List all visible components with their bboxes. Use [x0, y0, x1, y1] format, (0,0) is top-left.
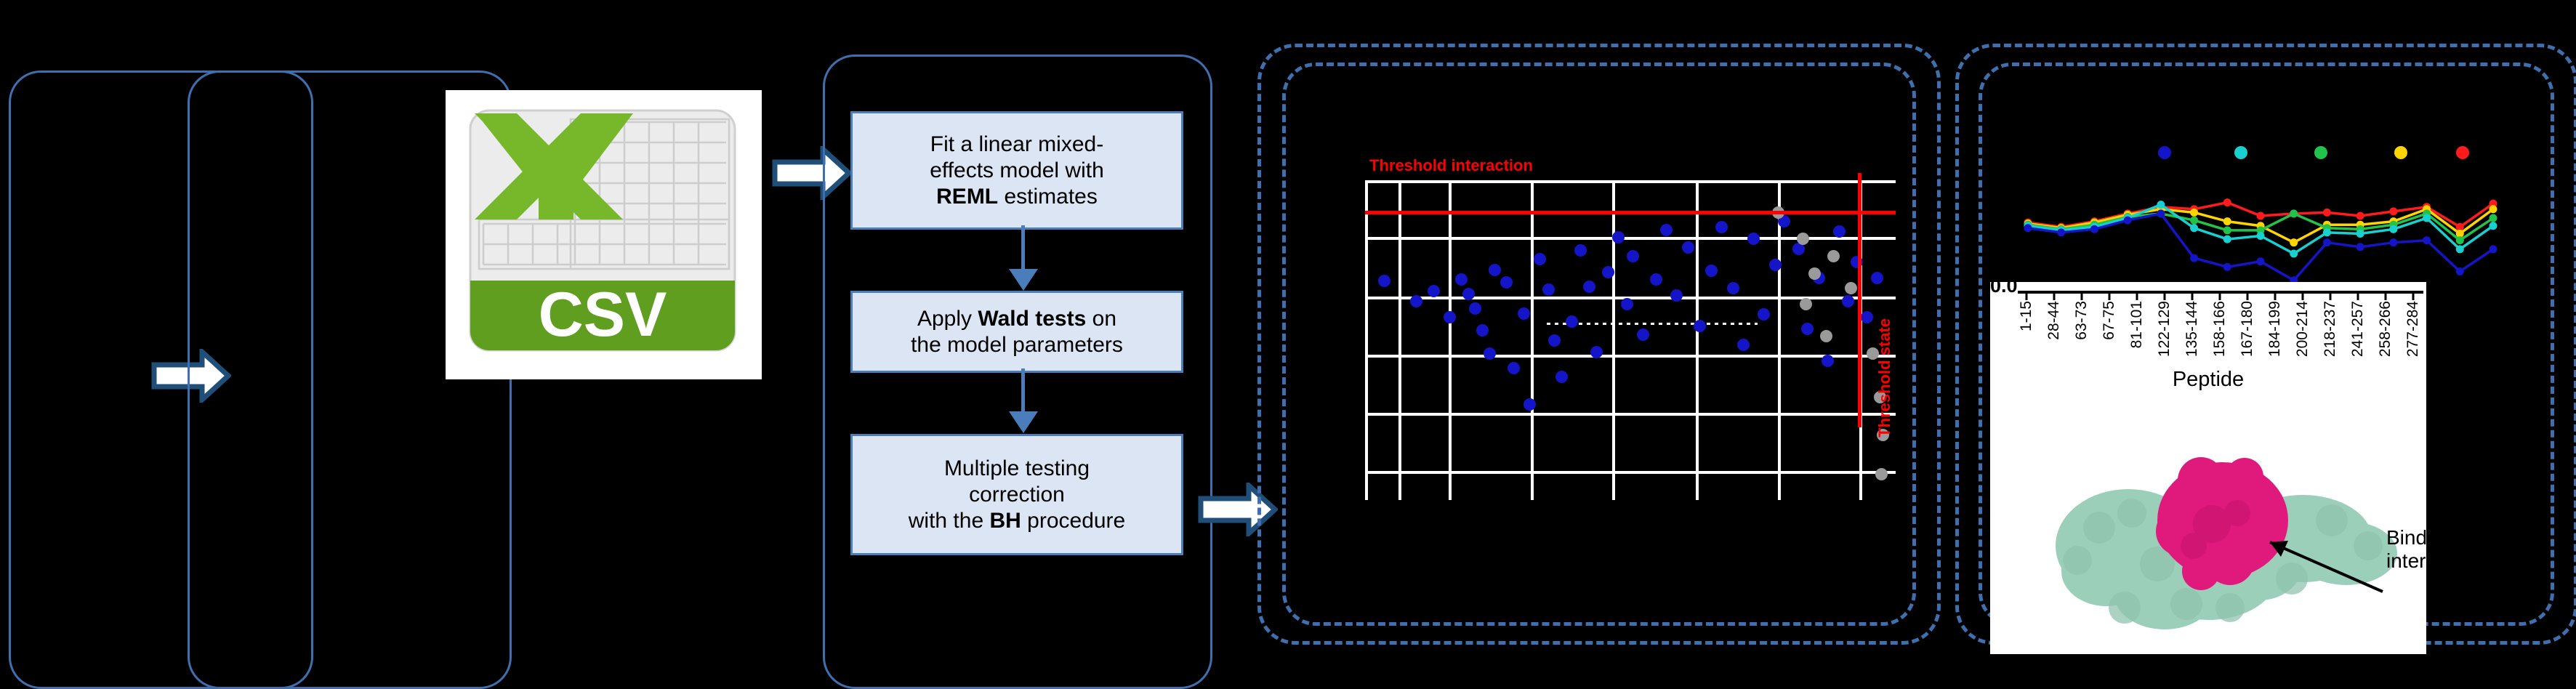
grid-line — [1365, 471, 1896, 474]
threshold-interaction-line — [1365, 211, 1896, 214]
chart-data-point — [2223, 226, 2231, 234]
scatter-point — [1462, 288, 1475, 300]
scatter-point-nonsignificant — [1820, 330, 1832, 342]
wald-line-1-post: on — [1086, 307, 1116, 331]
dotted-reference-line — [1547, 323, 1758, 325]
binding-interface-annotation: Binding interface — [2386, 526, 2426, 573]
chart-data-point — [2356, 243, 2364, 251]
mt-line-3-post: procedure — [1021, 509, 1125, 533]
down-arrow-icon — [1007, 410, 1039, 435]
scatter-point — [1500, 276, 1513, 289]
threshold-state-line — [1858, 173, 1861, 427]
fit-model-step[interactable]: Fit a linear mixed- effects model with R… — [850, 111, 1183, 230]
scatter-point — [1650, 273, 1662, 286]
peptide-tick-label: 28-44 — [2045, 301, 2063, 340]
threshold-state-label: Threshold state — [1875, 318, 1894, 438]
scatter-point — [1670, 289, 1683, 302]
peptide-line-chart — [1983, 124, 2503, 294]
scatter-point — [1489, 264, 1501, 276]
chart-data-point — [2290, 209, 2298, 217]
scatter-point — [1590, 346, 1603, 358]
scatter-point — [1484, 347, 1496, 360]
chart-data-point — [2157, 201, 2165, 209]
chart-data-point — [2456, 236, 2464, 244]
chart-data-point — [2190, 224, 2198, 232]
fit-model-line-3-post: estimates — [998, 185, 1098, 209]
scatter-point — [1694, 320, 1706, 332]
grid-line — [1612, 180, 1615, 500]
chart-data-point — [2456, 267, 2464, 275]
peptide-tick-label: 218-237 — [2322, 301, 2339, 357]
scatter-point — [1542, 283, 1555, 296]
chart-data-point — [2389, 238, 2397, 246]
svg-text:CSV: CSV — [539, 280, 667, 350]
chart-data-point — [2389, 225, 2397, 233]
scatter-point — [1660, 224, 1673, 236]
peptide-tick-label: 158-166 — [2211, 301, 2229, 357]
scatter-point — [1627, 250, 1639, 262]
scatter-point — [1637, 329, 1649, 341]
fit-model-line-2: effects model with — [930, 158, 1104, 182]
scatter-point-nonsignificant — [1827, 250, 1840, 262]
chart-data-point — [2190, 209, 2198, 217]
peptide-tick-label: 63-73 — [2073, 301, 2090, 340]
legend-marker — [2314, 146, 2327, 159]
fit-model-line-1: Fit a linear mixed- — [930, 132, 1103, 156]
grid-line — [1398, 180, 1401, 500]
scatter-point — [1476, 324, 1489, 337]
scatter-point — [1758, 308, 1770, 321]
scatter-point — [1822, 355, 1834, 367]
grid-line — [1531, 180, 1534, 500]
scatter-point — [1801, 323, 1814, 335]
scatter-point — [1378, 275, 1390, 287]
chart-data-point — [2490, 222, 2497, 230]
chart-data-point — [2423, 214, 2431, 222]
scatter-point-nonsignificant — [1800, 298, 1812, 310]
wald-line-2: the model parameters — [911, 333, 1123, 357]
scatter-point — [1455, 273, 1468, 286]
chart-data-point — [2356, 211, 2364, 219]
legend-marker — [2394, 146, 2407, 159]
binding-label-line-1: Binding — [2386, 526, 2426, 549]
scatter-point — [1444, 311, 1456, 323]
mt-line-2: correction — [969, 483, 1065, 507]
chart-data-point — [2024, 224, 2032, 232]
peptide-tick-label: 122-129 — [2156, 301, 2173, 357]
chart-data-point — [2490, 214, 2497, 222]
peptide-results-card: 0.0 1-1528-4463-7367-7581-101122-129135-… — [1990, 282, 2426, 654]
chart-data-point — [2223, 235, 2231, 243]
scatter-point — [1612, 231, 1625, 243]
grid-line — [1449, 180, 1452, 500]
chart-data-point — [2190, 254, 2198, 262]
peptide-tick-label: 258-266 — [2377, 301, 2394, 357]
scatter-point — [1842, 295, 1854, 307]
scatter-point-nonsignificant — [1797, 233, 1809, 245]
y-tick-label-0: 0.0 — [1990, 282, 2018, 297]
chart-data-point — [2323, 209, 2331, 217]
peptide-tick-label: 135-144 — [2183, 301, 2201, 357]
scatter-plot-area — [1365, 180, 1896, 500]
scatter-point — [1682, 241, 1694, 254]
legend-marker — [2456, 146, 2469, 159]
scatter-point — [1833, 225, 1846, 238]
binding-label-line-2: interface — [2386, 549, 2426, 572]
chart-data-point — [2323, 228, 2331, 236]
peptide-tick-label: 277-284 — [2404, 301, 2422, 357]
peptide-tick-label: 184-199 — [2266, 301, 2284, 357]
peptide-tick-label: 1-15 — [2018, 301, 2035, 331]
peptide-tick-label: 241-257 — [2349, 301, 2367, 357]
chart-data-point — [2057, 228, 2065, 236]
chart-data-point — [2323, 238, 2331, 246]
chart-data-point — [2223, 198, 2231, 206]
chart-data-point — [2490, 205, 2497, 213]
scatter-point-nonsignificant — [1875, 468, 1888, 480]
grid-line — [1778, 180, 1781, 500]
chart-data-point — [2423, 236, 2431, 244]
scatter-point — [1737, 339, 1750, 351]
grid-line — [1365, 180, 1896, 183]
chart-data-point — [2190, 217, 2198, 225]
chart-data-point — [2157, 209, 2165, 217]
protein-surface-structure — [1990, 397, 2426, 651]
scatter-point — [1410, 295, 1422, 307]
chart-data-point — [2090, 225, 2098, 233]
threshold-interaction-label: Threshold interaction — [1369, 156, 1533, 175]
chart-data-point — [2456, 245, 2464, 253]
scatter-point — [1469, 302, 1481, 315]
chart-data-point — [2389, 207, 2397, 215]
chart-data-point — [2490, 245, 2497, 253]
scatter-point — [1574, 244, 1587, 257]
mt-line-1: Multiple testing — [944, 456, 1090, 480]
scatter-point — [1428, 285, 1440, 297]
scatter-point-nonsignificant — [1808, 267, 1821, 280]
scatter-point — [1705, 265, 1718, 277]
scatter-point — [1861, 311, 1873, 323]
multiple-testing-step[interactable]: Multiple testing correction with the BH … — [850, 434, 1183, 555]
scatter-point — [1747, 233, 1760, 245]
csv-file-icon: CSV — [446, 90, 762, 379]
chart-data-point — [2223, 217, 2231, 225]
scatter-point — [1769, 259, 1782, 271]
chart-data-point — [2257, 232, 2265, 240]
scatter-point — [1518, 307, 1530, 320]
chart-data-point — [2223, 263, 2231, 271]
mt-bold-bh: BH — [989, 509, 1021, 533]
scatter-point — [1583, 281, 1595, 293]
scatter-point — [1715, 221, 1728, 233]
down-arrow-icon — [1007, 267, 1039, 292]
grid-line — [1365, 180, 1368, 500]
peptide-tick-label: 67-75 — [2101, 301, 2118, 340]
chart-data-point — [2257, 211, 2265, 219]
peptide-tick-label: 200-214 — [2294, 301, 2311, 357]
scatter-point — [1534, 253, 1546, 265]
x-axis-title: Peptide — [1990, 368, 2426, 392]
grid-line — [1365, 355, 1896, 358]
chart-data-point — [2356, 230, 2364, 238]
chart-data-point — [2290, 249, 2298, 257]
scatter-point — [1621, 298, 1633, 310]
chart-data-point — [2290, 238, 2298, 246]
mt-line-3-pre: with the — [909, 509, 990, 533]
grid-line — [1365, 237, 1896, 240]
legend-marker — [2158, 146, 2171, 159]
scatter-point — [1871, 272, 1883, 284]
grid-line — [1696, 180, 1699, 500]
chart-data-point — [2257, 257, 2265, 265]
legend-marker — [2234, 146, 2247, 159]
x-axis-ticks — [2018, 291, 2423, 301]
scatter-point — [1602, 266, 1614, 278]
fit-model-bold-reml: REML — [936, 185, 998, 209]
wald-tests-step[interactable]: Apply Wald tests on the model parameters — [850, 291, 1183, 373]
wald-line-1-pre: Apply — [917, 307, 978, 331]
peptide-tick-label: 167-180 — [2239, 301, 2256, 357]
scatter-point — [1727, 282, 1739, 294]
peptide-tick-label: 81-101 — [2128, 301, 2146, 348]
grid-line — [1365, 413, 1896, 416]
scatter-point — [1566, 315, 1578, 328]
chart-data-point — [2124, 217, 2132, 225]
scatter-point-nonsignificant — [1845, 282, 1857, 294]
scatter-point — [1548, 334, 1561, 347]
scatter-point — [1555, 371, 1568, 383]
scatter-point — [1524, 398, 1536, 411]
wald-bold: Wald tests — [978, 307, 1086, 331]
scatter-point — [1508, 362, 1520, 374]
